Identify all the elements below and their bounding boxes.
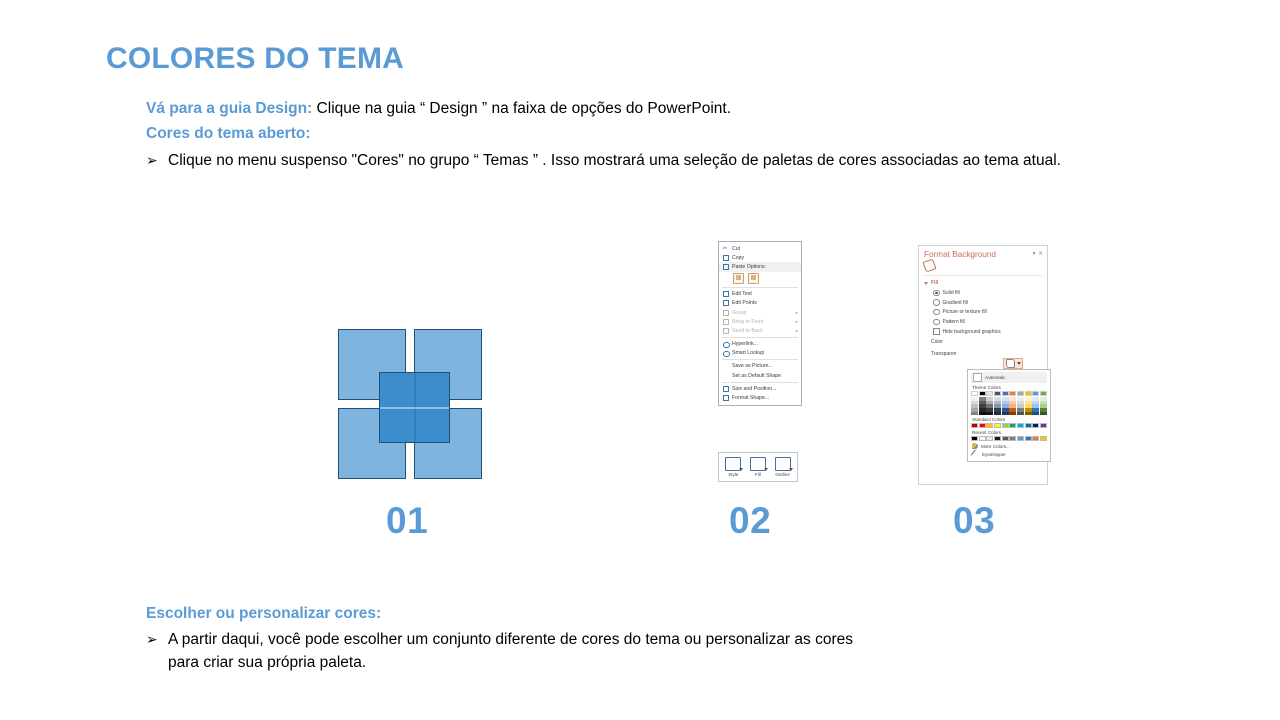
mini-toolbar-button[interactable]: Fill — [750, 457, 766, 477]
context-menu-item-label: Save as Picture... — [732, 363, 798, 369]
color-swatch[interactable] — [1032, 412, 1039, 416]
swatch-row[interactable] — [971, 412, 1047, 416]
context-menu-item-label: Size and Position... — [732, 386, 798, 392]
transparency-field-label: Transparen — [931, 351, 976, 357]
outro-section-head: Escolher ou personalizar cores: — [146, 603, 1046, 625]
swatch-row[interactable] — [971, 391, 1047, 396]
group-icon — [722, 309, 729, 316]
menu-separator — [722, 359, 798, 360]
context-menu-item-label: Bring to Front — [732, 319, 793, 325]
color-dropdown-menu[interactable]: Automatic Theme Colors Standard Colors R… — [967, 369, 1051, 462]
fill-section-label: Fill — [931, 280, 938, 286]
color-swatch[interactable] — [994, 391, 1001, 396]
eyedropper-label: Eyedropper — [982, 452, 1006, 457]
square-center-overlay — [379, 372, 450, 443]
context-menu-item[interactable]: Size and Position... — [719, 384, 801, 393]
color-swatch[interactable] — [1002, 436, 1009, 441]
color-swatch[interactable] — [1040, 412, 1047, 416]
fill-option-radio[interactable] — [933, 309, 940, 316]
color-swatch[interactable] — [1025, 391, 1032, 396]
context-menu-item-label: Paste Options: — [732, 264, 798, 270]
color-swatch[interactable] — [1017, 391, 1024, 396]
context-menu-item[interactable]: Hyperlink... — [719, 340, 801, 349]
fill-option-label: Picture or texture fill — [943, 309, 987, 315]
color-swatch[interactable] — [1009, 423, 1016, 428]
size-position-icon — [722, 385, 729, 392]
scissors-icon: ✂ — [722, 245, 729, 252]
format-shape-icon — [722, 395, 729, 402]
context-menu-item-label: Edit Points — [732, 300, 798, 306]
automatic-color-item[interactable]: Automatic — [971, 372, 1047, 383]
hide-background-graphics-checkbox[interactable] — [933, 328, 940, 335]
intro-lead-text: Clique na guia “ Design ” na faixa de op… — [312, 100, 731, 117]
close-icon[interactable]: ✕ — [1038, 251, 1043, 257]
color-picker-button[interactable] — [1003, 358, 1023, 369]
theme-colors-label: Theme Colors — [972, 385, 1047, 390]
context-menu-item[interactable]: Paste Options: — [719, 262, 801, 271]
automatic-swatch — [973, 373, 982, 382]
color-swatch[interactable] — [1002, 423, 1009, 428]
figure-squares-diagram — [338, 329, 490, 484]
context-menu-item[interactable]: Copy — [719, 253, 801, 262]
context-menu-screenshot[interactable]: ✂CutCopyPaste Options:Edit TextEdit Poin… — [718, 241, 802, 406]
context-menu-item-label: Cut — [732, 246, 798, 252]
arrow-bullet-icon: ➢ — [146, 150, 160, 171]
fill-option-row[interactable]: Solid fill — [919, 288, 1047, 298]
eyedropper-icon — [971, 450, 981, 460]
color-swatch[interactable] — [1017, 436, 1024, 441]
submenu-arrow-icon: ▸ — [796, 319, 798, 325]
color-swatch[interactable] — [1040, 391, 1047, 396]
recent-colors-row[interactable] — [971, 436, 1047, 441]
context-menu-item-label: Set as Default Shape — [732, 373, 798, 379]
format-pane-title: Format Background — [924, 250, 996, 259]
fill-option-radio[interactable] — [933, 299, 940, 306]
context-menu-item: Bring to Front▸ — [719, 317, 801, 326]
paste-option-button[interactable] — [733, 273, 744, 284]
context-menu-item-label: Hyperlink... — [732, 341, 798, 347]
mini-toolbar-button-label: Style — [728, 472, 738, 477]
color-swatch[interactable] — [971, 412, 978, 416]
context-menu-item-label: Smart Lookup — [732, 350, 798, 356]
submenu-arrow-icon: ▸ — [796, 328, 798, 334]
hide-background-graphics-row[interactable]: Hide background graphics — [919, 327, 1047, 337]
outro-bullet-item: ➢ A partir daqui, você pode escolher um … — [146, 629, 1046, 674]
fill-option-row[interactable]: Picture or texture fill — [919, 307, 1047, 317]
context-menu-item[interactable]: Set as Default Shape — [719, 371, 801, 380]
chevron-down-icon[interactable]: ▾ — [1033, 251, 1036, 257]
color-swatch[interactable] — [979, 412, 986, 416]
color-swatch[interactable] — [986, 391, 993, 396]
color-swatch[interactable] — [986, 436, 993, 441]
color-swatch[interactable] — [994, 423, 1001, 428]
hide-background-graphics-label: Hide background graphics — [943, 329, 1001, 335]
color-swatch[interactable] — [1025, 412, 1032, 416]
context-menu-item: Group▸ — [719, 308, 801, 317]
color-swatch[interactable] — [979, 423, 986, 428]
triangle-down-icon — [924, 282, 928, 285]
menu-separator — [722, 287, 798, 288]
fill-option-radio[interactable] — [933, 319, 940, 326]
color-swatch[interactable] — [979, 391, 986, 396]
color-swatch[interactable] — [971, 423, 978, 428]
intro-lead-line: Vá para a guia Design: Clique na guia “ … — [146, 98, 1146, 120]
context-menu-item[interactable]: Edit Points — [719, 299, 801, 308]
edit-text-icon — [722, 291, 729, 298]
mini-toolbar-button-label: Fill — [755, 472, 761, 477]
caret-down-icon — [1017, 362, 1021, 365]
color-swatch[interactable] — [979, 436, 986, 441]
send-back-icon — [722, 327, 729, 334]
no-icon — [722, 372, 729, 379]
color-swatch[interactable] — [1040, 423, 1047, 428]
color-swatch[interactable] — [1040, 436, 1047, 441]
fill-bucket-icon — [922, 258, 936, 272]
standard-colors-label: Standard Colors — [972, 417, 1047, 422]
color-swatch[interactable] — [986, 423, 993, 428]
step-number-03: 03 — [953, 500, 995, 542]
mini-toolbar-button[interactable]: Outline — [775, 457, 791, 477]
color-swatch[interactable] — [986, 412, 993, 416]
theme-colors-grid[interactable] — [971, 391, 1047, 415]
intro-text-block: Vá para a guia Design: Clique na guia “ … — [146, 98, 1146, 172]
context-menu-item-label: Copy — [732, 255, 798, 261]
paste-options-icons[interactable] — [719, 272, 801, 286]
fill-option-label: Pattern fill — [943, 319, 965, 325]
context-menu-item-label: Format Shape... — [732, 395, 798, 401]
context-menu-item-label: Group — [732, 310, 793, 316]
fill-option-list[interactable]: Solid fillGradient fillPicture or textur… — [919, 288, 1047, 327]
paste-option-button[interactable] — [748, 273, 759, 284]
context-menu-item[interactable]: Edit Text — [719, 290, 801, 299]
format-background-pane-screenshot[interactable]: Format Background ▾ ✕ Fill Solid fillGra… — [918, 245, 1048, 485]
context-menu-item-label: Edit Text — [732, 291, 798, 297]
clipboard-icon — [722, 263, 729, 270]
more-colors-label: More Colors... — [981, 444, 1010, 449]
outline-pen-icon — [775, 457, 791, 471]
fill-bucket-icon — [1006, 359, 1015, 368]
intro-bullet-text: Clique no menu suspenso "Cores" no grupo… — [168, 150, 1073, 172]
step-number-01: 01 — [386, 500, 428, 542]
submenu-arrow-icon: ▸ — [796, 310, 798, 316]
context-menu-item[interactable]: Format Shape... — [719, 393, 801, 402]
intro-bullet-item: ➢ Clique no menu suspenso "Cores" no gru… — [146, 150, 1146, 172]
color-swatch[interactable] — [1032, 436, 1039, 441]
color-swatch[interactable] — [1009, 436, 1016, 441]
bring-front-icon — [722, 318, 729, 325]
fill-option-label: Gradient fill — [943, 300, 968, 306]
color-swatch[interactable] — [1032, 423, 1039, 428]
color-swatch[interactable] — [1002, 391, 1009, 396]
recent-colors-label: Recent Colors — [972, 430, 1047, 435]
no-icon — [722, 363, 729, 370]
color-swatch[interactable] — [1009, 391, 1016, 396]
edit-points-icon — [722, 300, 729, 307]
context-menu-item-label: Send to Back — [732, 328, 793, 334]
context-menu-item[interactable]: Save as Picture... — [719, 362, 801, 371]
color-swatch[interactable] — [1017, 423, 1024, 428]
color-swatch[interactable] — [994, 412, 1001, 416]
menu-separator — [722, 337, 798, 338]
more-colors-item[interactable]: More Colors... — [971, 443, 1047, 449]
context-menu-item[interactable]: ✂Cut — [719, 244, 801, 253]
fill-option-radio[interactable] — [933, 290, 940, 297]
smart-lookup-icon — [722, 350, 729, 357]
automatic-label: Automatic — [985, 375, 1005, 380]
mini-toolbar-button[interactable]: Style — [725, 457, 741, 477]
context-menu-item[interactable]: Smart Lookup — [719, 349, 801, 358]
fill-option-row[interactable]: Pattern fill — [919, 317, 1047, 327]
color-swatch[interactable] — [1002, 412, 1009, 416]
intro-lead-label: Vá para a guia Design: — [146, 100, 312, 117]
intro-section-head: Cores do tema aberto: — [146, 123, 1146, 145]
copy-icon — [722, 254, 729, 261]
color-field-row: Color — [919, 336, 1047, 348]
mini-toolbar-screenshot[interactable]: StyleFillOutline — [718, 452, 798, 482]
eyedropper-item[interactable]: Eyedropper — [971, 451, 1047, 458]
step-number-02: 02 — [729, 500, 771, 542]
page-title: COLORES DO TEMA — [106, 42, 404, 76]
fill-option-label: Solid fill — [943, 290, 960, 296]
context-menu-item: Send to Back▸ — [719, 326, 801, 335]
format-pane-header: Format Background ▾ ✕ — [919, 246, 1047, 259]
arrow-bullet-icon: ➢ — [146, 629, 160, 650]
color-swatch[interactable] — [1025, 423, 1032, 428]
outro-text-block: Escolher ou personalizar cores: ➢ A part… — [146, 600, 1046, 674]
color-swatch[interactable] — [1009, 412, 1016, 416]
color-swatch[interactable] — [971, 391, 978, 396]
color-swatch[interactable] — [1025, 436, 1032, 441]
color-field-label: Color — [931, 339, 976, 345]
fill-section-header[interactable]: Fill — [919, 276, 1047, 288]
transparency-field-row: Transparen — [919, 348, 1047, 360]
menu-separator — [722, 382, 798, 383]
color-swatch[interactable] — [1032, 391, 1039, 396]
fill-bucket-icon — [750, 457, 766, 471]
color-swatch[interactable] — [994, 436, 1001, 441]
fill-option-row[interactable]: Gradient fill — [919, 298, 1047, 308]
palette-icon — [972, 443, 978, 449]
color-swatch[interactable] — [971, 436, 978, 441]
standard-colors-row[interactable] — [971, 423, 1047, 428]
outro-bullet-text: A partir daqui, você pode escolher um co… — [168, 629, 888, 674]
format-pane-header-icons: ▾ ✕ — [1033, 250, 1043, 257]
hyperlink-icon — [722, 341, 729, 348]
shape-style-icon — [725, 457, 741, 471]
mini-toolbar-button-label: Outline — [775, 472, 790, 477]
color-swatch[interactable] — [1017, 412, 1024, 416]
center-seam-horizontal — [380, 407, 449, 409]
